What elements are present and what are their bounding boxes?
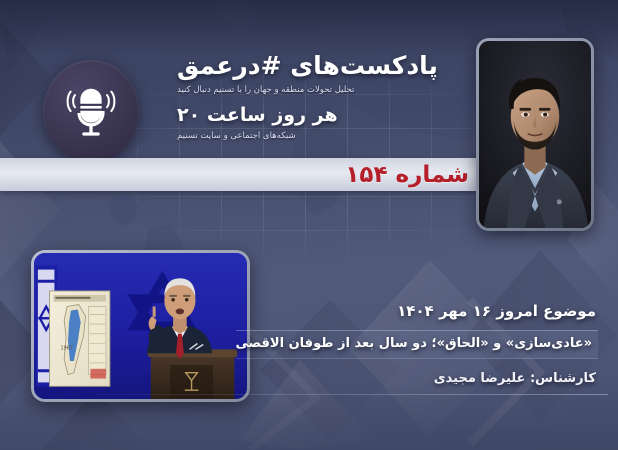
- episode-number-banner: شماره ۱۵۴: [0, 158, 487, 191]
- brand-airtime: هر روز ساعت ۲۰: [177, 105, 477, 127]
- microphone-badge: [43, 60, 139, 163]
- brand-subtitle: تحلیل تحولات منطقه و جهان را با تسنیم دن…: [177, 85, 477, 96]
- episode-number-label: شماره ۱۵۴: [345, 162, 469, 188]
- host-portrait-frame: [476, 38, 594, 231]
- brand-header: پادکست‌های #درعمق تحلیل تحولات منطقه و ج…: [177, 52, 477, 141]
- episode-date: موضوع امروز ۱۶ مهر ۱۴۰۴: [236, 300, 596, 323]
- episode-expert: کارشناس: علیرضا مجیدی: [236, 370, 596, 388]
- episode-topic-bar: «عادی‌سازی» و «الحاق»؛ دو سال بعد از طوف…: [236, 330, 598, 359]
- brand-channels: شبکه‌های اجتماعی و سایت تسنیم: [177, 131, 477, 141]
- episode-topic: «عادی‌سازی» و «الحاق»؛ دو سال بعد از طوف…: [242, 335, 592, 353]
- brand-title: پادکست‌های #درعمق: [177, 52, 477, 81]
- host-portrait: [479, 41, 591, 228]
- video-thumbnail-frame[interactable]: 1967: [31, 250, 250, 402]
- episode-info-block: موضوع امروز ۱۶ مهر ۱۴۰۴ «عادی‌سازی» و «ا…: [236, 300, 596, 388]
- video-thumbnail[interactable]: 1967: [34, 253, 247, 399]
- podcast-poster: پادکست‌های #درعمق تحلیل تحولات منطقه و ج…: [0, 0, 618, 450]
- microphone-icon: [60, 81, 122, 143]
